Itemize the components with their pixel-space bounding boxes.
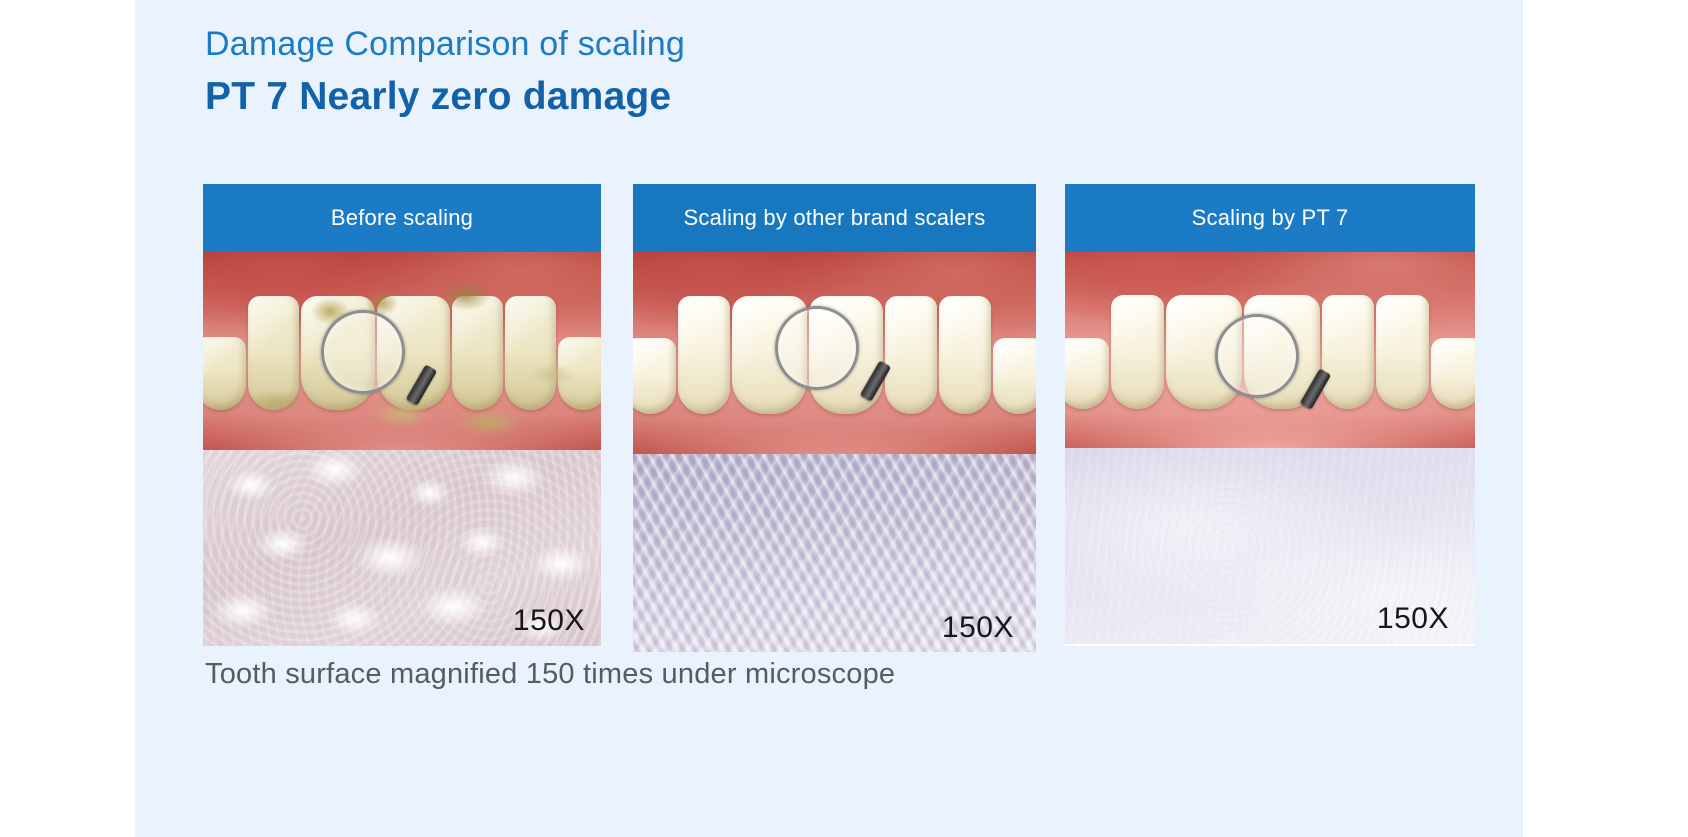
- tooth: [558, 337, 601, 410]
- caption-text: Tooth surface magnified 150 times under …: [205, 658, 895, 691]
- tooth: [1065, 338, 1109, 409]
- tooth: [678, 296, 730, 413]
- tooth: [939, 296, 991, 413]
- comparison-panel-other-brand: Scaling by other brand scalers: [633, 184, 1036, 652]
- panel-header-before: Before scaling: [203, 184, 601, 252]
- magnifier-icon: [321, 310, 405, 394]
- tooth: [505, 296, 556, 411]
- slide-subtitle: Damage Comparison of scaling: [205, 25, 1405, 64]
- tooth: [1111, 295, 1163, 409]
- microscope-surface-rough: 150X: [203, 450, 601, 646]
- tooth: [452, 296, 503, 411]
- clinical-photo-other-brand: [633, 252, 1036, 454]
- magnifier-icon: [1215, 314, 1299, 398]
- slide-root: Damage Comparison of scaling PT 7 Nearly…: [0, 0, 1688, 837]
- comparison-panel-pt7: Scaling by PT 7: [1065, 184, 1475, 646]
- magnification-label: 150X: [513, 604, 585, 638]
- magnifier-icon: [775, 306, 859, 390]
- slide-headline: PT 7 Nearly zero damage: [205, 75, 1405, 120]
- content-card: Damage Comparison of scaling PT 7 Nearly…: [135, 0, 1523, 837]
- tooth: [1431, 338, 1475, 409]
- tooth: [248, 296, 299, 411]
- tooth: [885, 296, 937, 413]
- magnification-label: 150X: [942, 611, 1014, 645]
- tooth: [633, 338, 676, 413]
- tooth: [993, 338, 1036, 413]
- tooth: [1322, 295, 1374, 409]
- tooth: [203, 337, 246, 410]
- tooth: [1376, 295, 1428, 409]
- title-block: Damage Comparison of scaling PT 7 Nearly…: [205, 25, 1405, 120]
- microscope-surface-smooth: 150X: [1065, 448, 1475, 644]
- magnification-label: 150X: [1377, 602, 1449, 636]
- panel-header-other-brand: Scaling by other brand scalers: [633, 184, 1036, 252]
- panel-header-pt7: Scaling by PT 7: [1065, 184, 1475, 252]
- microscope-surface-scratched: 150X: [633, 454, 1036, 652]
- comparison-panel-before: Before scaling: [203, 184, 601, 646]
- clinical-photo-before-scaling: [203, 252, 601, 450]
- clinical-photo-pt7: [1065, 252, 1475, 448]
- comparison-panels: Before scaling: [203, 184, 1475, 646]
